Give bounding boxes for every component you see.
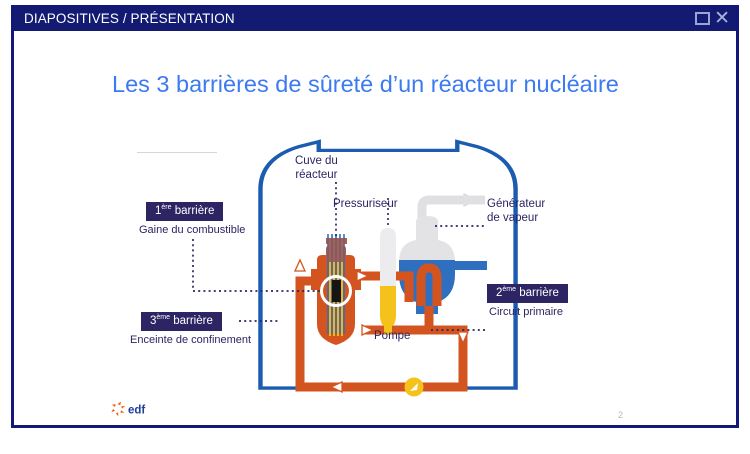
label-generateur-de-vapeur: Générateur de vapeur bbox=[487, 197, 545, 225]
edf-starburst-icon bbox=[111, 402, 125, 417]
caption-barriere-1: Gaine du combustible bbox=[139, 224, 245, 236]
badge-barriere-3: 3ème barrière bbox=[141, 312, 222, 331]
pump bbox=[405, 378, 424, 397]
label-gv-line2: de vapeur bbox=[487, 211, 545, 225]
badge-1-word: barrière bbox=[175, 205, 215, 217]
badge-2-ordinal: ème bbox=[502, 286, 516, 293]
label-cuve-line2: réacteur bbox=[295, 169, 338, 183]
caption-barriere-2: Circuit primaire bbox=[489, 306, 563, 318]
steam-pipe-segment bbox=[455, 196, 485, 205]
presentation-viewer: DIAPOSITIVES / PRÉSENTATION ✕ Les 3 barr… bbox=[0, 0, 750, 454]
slide-canvas: Les 3 barrières de sûreté d’un réacteur … bbox=[17, 34, 733, 425]
close-icon[interactable]: ✕ bbox=[714, 9, 730, 28]
page-number: 2 bbox=[618, 410, 623, 420]
badge-2-word: barrière bbox=[519, 287, 559, 299]
window-title-bar: DIAPOSITIVES / PRÉSENTATION ✕ bbox=[14, 8, 736, 31]
pressurizer bbox=[375, 228, 403, 341]
badge-3-word: barrière bbox=[173, 315, 213, 327]
caption-barriere-3: Enceinte de confinement bbox=[130, 334, 251, 346]
badge-barriere-2: 2ème barrière bbox=[487, 284, 568, 303]
edf-logo: edf bbox=[107, 400, 167, 420]
window-controls: ✕ bbox=[695, 9, 730, 28]
badge-3-ordinal: ème bbox=[156, 314, 170, 321]
restore-window-icon[interactable] bbox=[695, 12, 710, 25]
label-pompe: Pompe bbox=[374, 330, 410, 344]
fuel-cladding-detail bbox=[332, 280, 341, 302]
badge-1-ordinal: ère bbox=[161, 204, 171, 211]
edf-logo-text: edf bbox=[128, 405, 145, 417]
badge-barriere-1: 1ère barrière bbox=[146, 202, 223, 221]
label-pressuriseur: Pressuriseur bbox=[333, 198, 398, 212]
label-cuve-du-reacteur: Cuve du réacteur bbox=[295, 155, 338, 182]
window-title: DIAPOSITIVES / PRÉSENTATION bbox=[24, 11, 235, 26]
label-gv-line1: Générateur bbox=[487, 197, 545, 211]
reactor-diagram bbox=[17, 34, 733, 425]
label-cuve-line1: Cuve du bbox=[295, 155, 338, 169]
